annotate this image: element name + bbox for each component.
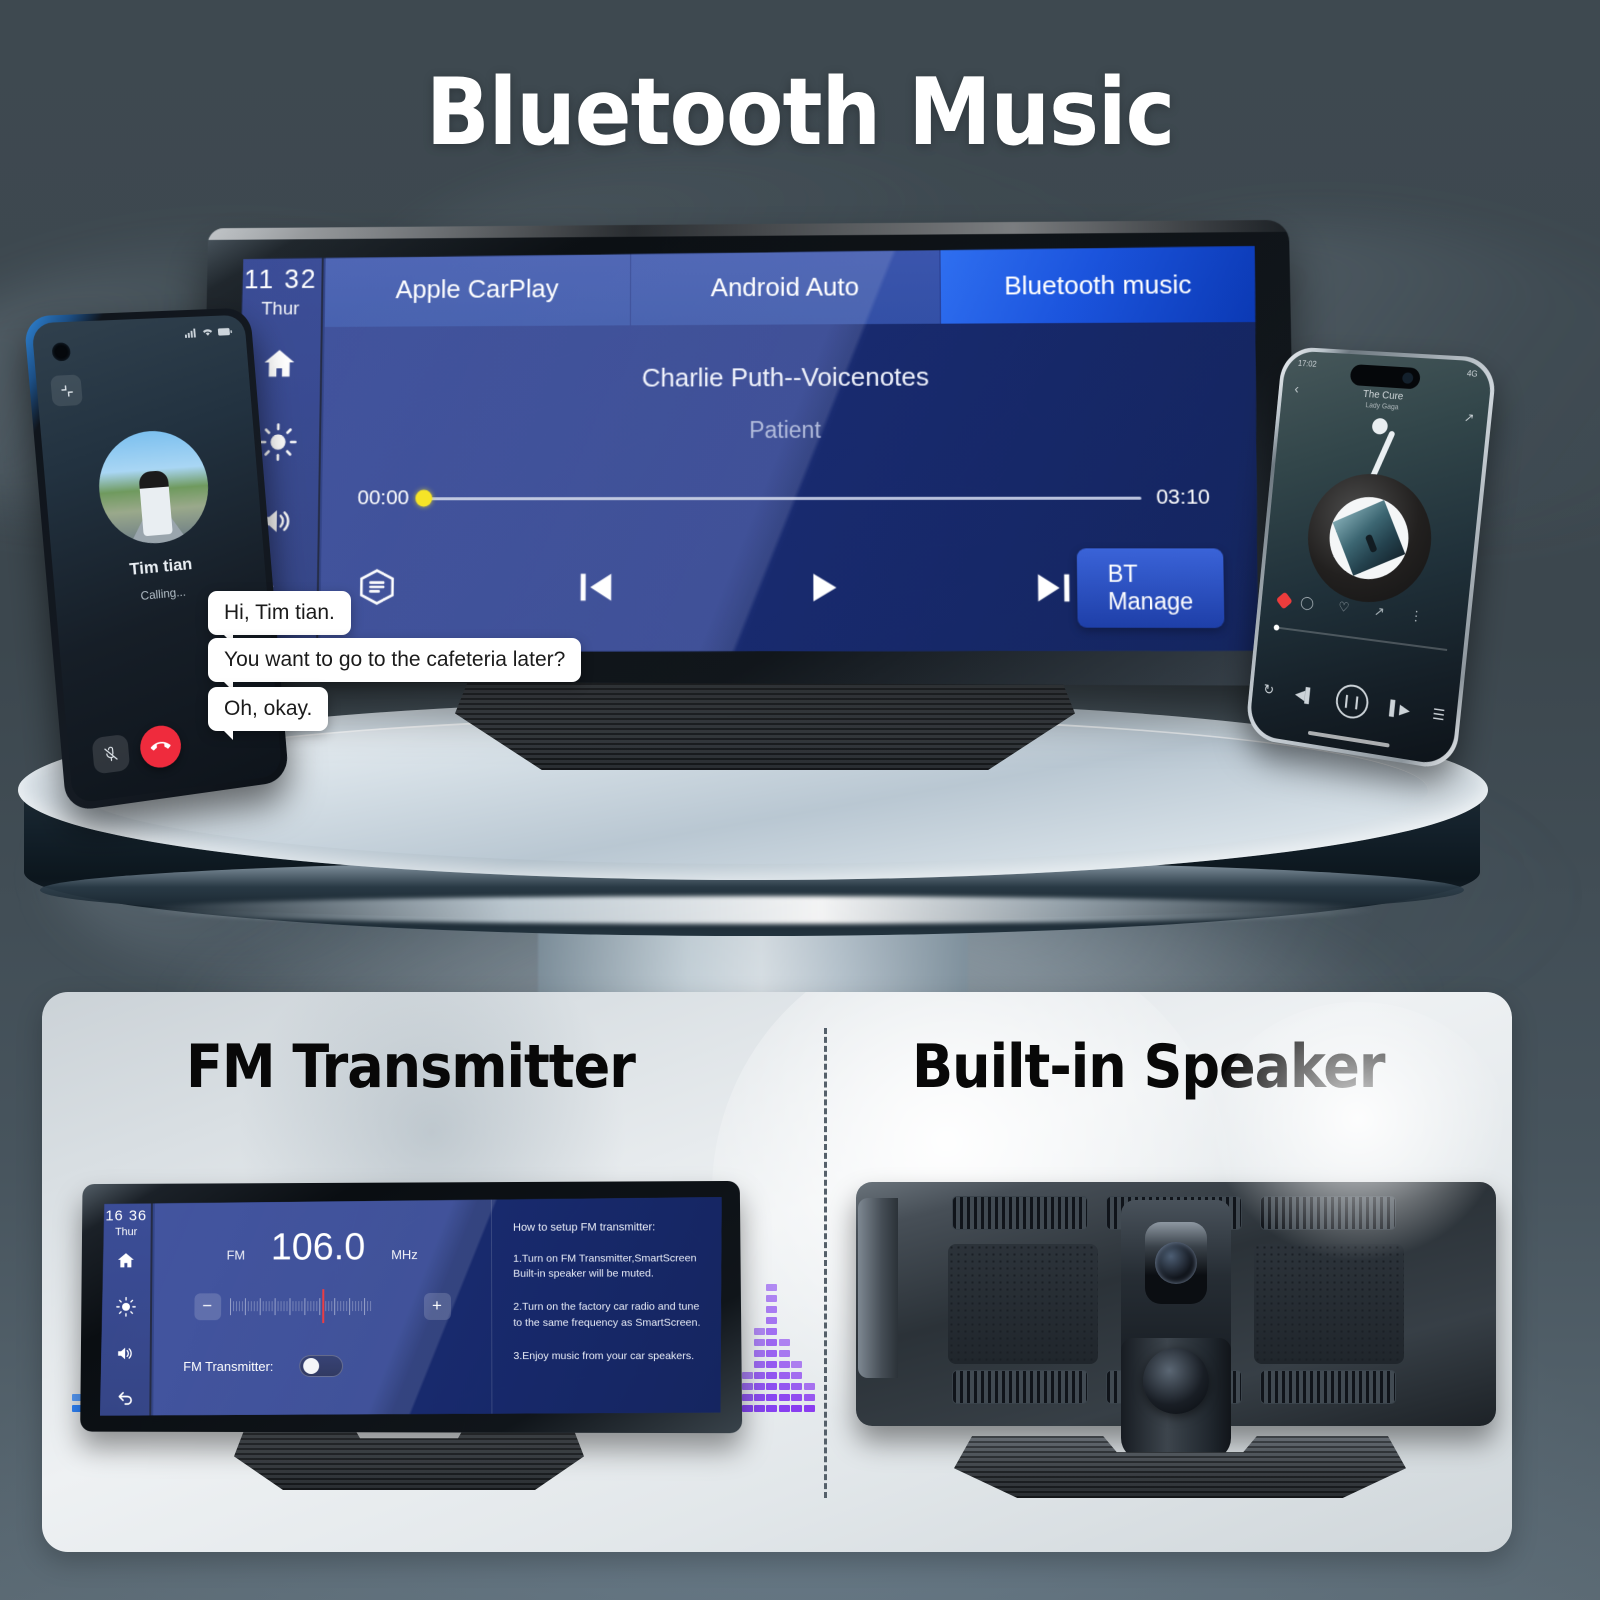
minimize-icon[interactable] — [50, 374, 83, 406]
fm-instructions: How to setup FM transmitter: 1.Turn on F… — [493, 1197, 724, 1417]
panel-glow — [1208, 1002, 1508, 1262]
scale-tick — [271, 1301, 272, 1311]
scale-tick — [340, 1301, 341, 1311]
progress-slider[interactable] — [1274, 626, 1448, 651]
camera-icon — [1145, 1222, 1207, 1304]
mute-icon[interactable] — [92, 734, 131, 775]
android-phone: Tim tian Calling... — [24, 308, 290, 813]
scale-tick — [301, 1301, 302, 1311]
rear-camera-icon — [1143, 1348, 1209, 1414]
scale-tick — [352, 1301, 353, 1311]
iphone-music-player: 17:02 4G ‹ ↗ The Cure Lady Gaga — [1245, 346, 1498, 771]
download-icon[interactable]: ◯ — [1300, 594, 1315, 611]
housing-edge — [858, 1198, 898, 1378]
scale-tick — [298, 1301, 299, 1311]
frequency-scale[interactable] — [229, 1291, 414, 1321]
home-icon[interactable] — [115, 1251, 137, 1275]
tab-android-auto[interactable]: Android Auto — [631, 248, 942, 325]
signal-icon — [184, 328, 197, 338]
head-unit-bezel: 11 32 Thur — [200, 220, 1298, 686]
instruction-step: 1.Turn on FM Transmitter,SmartScreen Bui… — [513, 1251, 708, 1282]
more-icon[interactable]: ⋮ — [1409, 608, 1423, 626]
phone-body: Tim tian Calling... — [24, 308, 290, 813]
scale-tick — [355, 1301, 356, 1311]
tab-bluetooth-music[interactable]: Bluetooth music — [941, 246, 1256, 324]
scale-tick — [253, 1301, 254, 1311]
scale-tick — [286, 1301, 287, 1311]
scale-tick — [232, 1301, 233, 1311]
fm-transmitter-toggle[interactable] — [299, 1355, 343, 1377]
scale-tick — [328, 1301, 329, 1311]
fm-tuner: FM 106.0 MHz − + FM Transmitter: — [153, 1198, 492, 1416]
speaker-mesh — [948, 1244, 1098, 1364]
progress-slider[interactable] — [423, 496, 1142, 500]
scale-tick — [346, 1301, 347, 1311]
mat-surface — [954, 1436, 1406, 1498]
home-indicator — [1308, 731, 1390, 748]
phone-status-bar — [184, 326, 232, 338]
scale-tick — [247, 1301, 248, 1311]
source-tabs: Apple CarPlay Android Auto Bluetooth mus… — [325, 246, 1256, 327]
progress-handle[interactable] — [1273, 624, 1279, 631]
speaker-vent — [952, 1370, 1088, 1404]
scale-tick — [238, 1301, 239, 1311]
playback-controls: ↻ ◀▌ ❙❙ ▌▶ ☰ — [1252, 671, 1459, 735]
back-icon[interactable] — [114, 1390, 135, 1413]
bezel-highlight — [208, 220, 1289, 240]
status-day: Thur — [261, 299, 299, 321]
scale-tick — [325, 1301, 326, 1311]
status-time: 11 32 — [244, 264, 318, 295]
battery-icon — [218, 327, 233, 337]
frequency-needle — [322, 1289, 324, 1323]
equalizer-bar — [766, 1284, 777, 1412]
fm-band-label: FM — [227, 1248, 246, 1263]
scale-tick — [244, 1298, 245, 1315]
scale-tick — [268, 1301, 269, 1311]
head-unit-screen: 11 32 Thur — [233, 246, 1262, 655]
album-art-figure — [1365, 534, 1378, 553]
fm-frequency-row: FM 106.0 MHz — [154, 1226, 491, 1270]
vinyl-record — [1302, 469, 1437, 609]
now-playing-header: The Cure Lady Gaga — [1281, 384, 1489, 418]
chat-bubble: Hi, Tim tian. — [208, 591, 351, 635]
equalizer-bar — [804, 1383, 815, 1412]
instructions-title: How to setup FM transmitter: — [513, 1221, 708, 1234]
scale-tick — [313, 1301, 314, 1311]
scale-tick — [304, 1298, 305, 1315]
progress-row: 00:00 03:10 — [357, 485, 1210, 510]
fm-unit-label: MHz — [391, 1247, 418, 1262]
iphone-body: 17:02 4G ‹ ↗ The Cure Lady Gaga — [1245, 346, 1498, 771]
avatar-person — [138, 470, 172, 536]
fm-toggle-label: FM Transmitter: — [183, 1358, 273, 1373]
frequency-increase-button[interactable]: + — [423, 1292, 450, 1319]
scale-tick — [262, 1301, 263, 1311]
fm-content: FM 106.0 MHz − + FM Transmitter: — [153, 1197, 723, 1417]
speaker-vent — [1260, 1370, 1396, 1404]
scale-tick — [358, 1301, 359, 1311]
lens-glass — [1155, 1242, 1197, 1284]
fm-toggle-row: FM Transmitter: — [183, 1355, 491, 1377]
album-name: Patient — [323, 416, 1258, 445]
scale-tick — [295, 1301, 296, 1311]
track-title: Charlie Puth--Voicenotes — [324, 360, 1258, 394]
scale-tick — [349, 1298, 350, 1315]
scale-tick — [241, 1301, 242, 1311]
equalizer-bar — [754, 1328, 765, 1412]
scale-tick — [277, 1301, 278, 1311]
scale-tick — [316, 1301, 317, 1311]
front-camera-icon — [51, 342, 71, 361]
share-icon[interactable]: ↗ — [1373, 603, 1385, 620]
play-icon[interactable] — [801, 565, 845, 610]
scale-tick — [307, 1301, 308, 1311]
previous-icon[interactable]: ◀▌ — [1294, 685, 1315, 704]
equalizer-bar — [742, 1372, 753, 1412]
record-label — [1326, 494, 1413, 584]
repeat-icon[interactable]: ↻ — [1263, 680, 1275, 698]
scale-tick — [274, 1298, 275, 1315]
scale-tick — [259, 1298, 260, 1315]
fm-head-unit: 16 36 Thur — [78, 1182, 738, 1432]
chat-bubble: Oh, okay. — [208, 687, 328, 731]
favorite-icon[interactable] — [1276, 592, 1293, 610]
album-art — [1333, 500, 1406, 576]
caller-avatar — [95, 428, 213, 548]
iphone-screen: 17:02 4G ‹ ↗ The Cure Lady Gaga — [1249, 350, 1494, 766]
status-day: Thur — [115, 1226, 137, 1238]
scale-tick — [343, 1301, 344, 1311]
scale-tick — [256, 1301, 257, 1311]
front-camera-icon — [1402, 372, 1414, 384]
pedestal-gloss — [138, 896, 1378, 924]
fm-bezel: 16 36 Thur — [80, 1181, 742, 1433]
head-unit-content: Apple CarPlay Android Auto Bluetooth mus… — [320, 246, 1262, 655]
chat-bubble: You want to go to the cafeteria later? — [208, 638, 581, 682]
status-time: 16 36 — [105, 1207, 147, 1224]
scale-tick — [283, 1301, 284, 1311]
brightness-icon[interactable] — [258, 422, 298, 462]
scale-tick — [292, 1301, 293, 1311]
scale-tick — [289, 1298, 290, 1315]
fm-screen: 16 36 Thur — [100, 1197, 724, 1417]
playlist-icon[interactable]: ☰ — [1432, 705, 1446, 724]
previous-icon[interactable] — [573, 564, 619, 610]
speaker-device-mat — [954, 1436, 1406, 1498]
home-icon[interactable] — [259, 346, 300, 381]
fm-transmitter-heading: FM Transmitter — [186, 1032, 635, 1102]
scale-tick — [337, 1301, 338, 1311]
scale-tick — [280, 1301, 281, 1311]
instruction-step: 3.Enjoy music from your car speakers. — [513, 1349, 709, 1364]
wifi-icon — [202, 327, 214, 337]
progress-handle[interactable] — [415, 490, 432, 507]
duration-time: 03:10 — [1156, 485, 1210, 509]
scale-tick — [310, 1301, 311, 1311]
hero-scene: 11 32 Thur — [0, 0, 1600, 990]
speaker-mesh — [1254, 1244, 1404, 1364]
comment-icon[interactable]: ♡ — [1337, 599, 1350, 616]
speaker-vent — [952, 1196, 1088, 1230]
playlist-icon[interactable] — [356, 566, 399, 608]
tonearm-pivot-icon — [1371, 418, 1388, 435]
volume-icon[interactable] — [114, 1344, 136, 1368]
bluetooth-player: Charlie Puth--Voicenotes Patient 00:00 0… — [320, 322, 1262, 655]
pause-icon[interactable]: ❙❙ — [1334, 682, 1370, 720]
bt-manage-button[interactable]: BT Manage — [1077, 548, 1225, 628]
instruction-step: 2.Turn on the factory car radio and tune… — [513, 1300, 708, 1331]
scale-tick — [250, 1301, 251, 1311]
tab-apple-carplay[interactable]: Apple CarPlay — [325, 251, 631, 327]
status-network: 4G — [1466, 369, 1478, 379]
scale-tick — [364, 1298, 365, 1315]
scale-tick — [265, 1301, 266, 1311]
scale-tick — [361, 1301, 362, 1311]
scale-tick — [370, 1301, 371, 1311]
fm-frequency-value: 106.0 — [271, 1226, 365, 1269]
fm-sidebar: 16 36 Thur — [100, 1200, 153, 1416]
scale-tick — [230, 1298, 231, 1315]
toggle-knob — [303, 1358, 319, 1374]
car-head-unit: 11 32 Thur — [196, 222, 1286, 682]
status-time: 17:02 — [1298, 359, 1317, 369]
scale-tick — [331, 1301, 332, 1311]
dynamic-island — [1349, 364, 1421, 389]
next-icon[interactable]: ▌▶ — [1389, 699, 1411, 719]
equalizer-bar — [791, 1361, 802, 1412]
brightness-icon[interactable] — [115, 1296, 136, 1322]
fm-tuning-slider[interactable]: − + — [154, 1291, 491, 1321]
next-icon[interactable] — [1030, 565, 1077, 612]
end-call-icon[interactable] — [139, 723, 183, 770]
equalizer-bar — [779, 1339, 790, 1412]
playback-controls: BT Manage — [320, 548, 1261, 628]
elapsed-time: 00:00 — [357, 486, 409, 510]
scale-tick — [235, 1301, 236, 1311]
scale-tick — [319, 1298, 320, 1315]
frequency-decrease-button[interactable]: − — [194, 1293, 221, 1320]
scale-tick — [367, 1301, 368, 1311]
scale-tick — [334, 1298, 335, 1315]
